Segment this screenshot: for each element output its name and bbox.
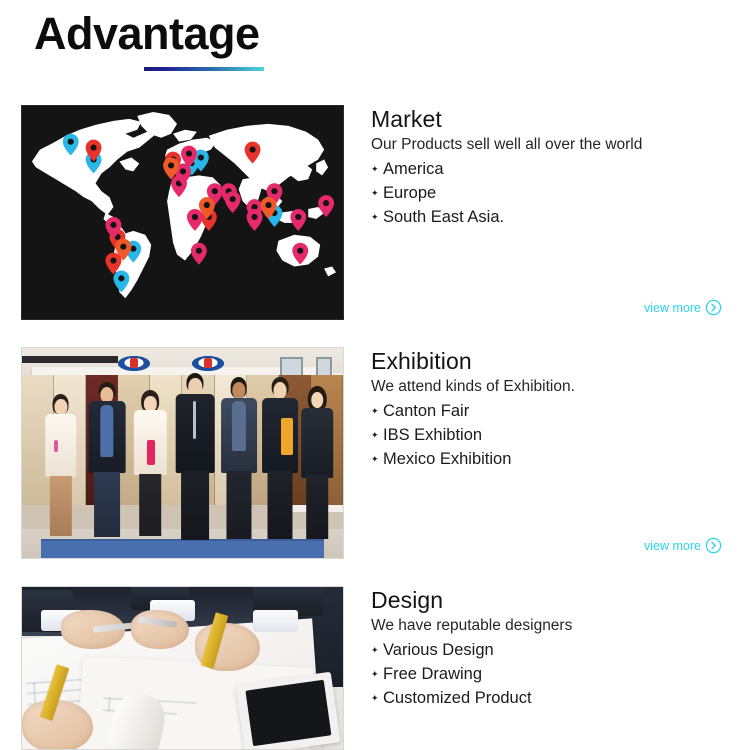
list-item: IBS Exhibtion xyxy=(371,423,743,447)
list-item: Mexico Exhibition xyxy=(371,447,743,471)
market-text-column: Market Our Products sell well all over t… xyxy=(371,105,743,229)
person xyxy=(298,386,337,546)
list-item: Europe xyxy=(371,181,743,205)
section-design: Design We have reputable designers Vario… xyxy=(0,586,750,750)
list-item: Free Drawing xyxy=(371,662,743,686)
person xyxy=(86,382,128,546)
map-canvas xyxy=(22,106,343,319)
shirt-cuff xyxy=(253,610,298,633)
person xyxy=(131,390,170,545)
booth-logo-icon xyxy=(192,356,224,371)
chevron-right-circle-icon xyxy=(705,537,722,554)
booth-beam xyxy=(22,356,118,363)
section-heading: Exhibition xyxy=(371,347,743,375)
page-title: Advantage xyxy=(34,6,260,62)
section-market: Market Our Products sell well all over t… xyxy=(0,105,750,320)
view-more-label: view more xyxy=(644,301,701,315)
exhibition-text-column: Exhibition We attend kinds of Exhibition… xyxy=(371,347,743,471)
booth-logo-icon xyxy=(118,356,150,371)
list-item: South East Asia. xyxy=(371,205,743,229)
view-more-label: view more xyxy=(644,539,701,553)
advantage-page: Advantage xyxy=(0,0,750,750)
list-item: Customized Product xyxy=(371,686,743,710)
page-title-block: Advantage xyxy=(34,6,260,62)
view-more-link-exhibition[interactable]: view more xyxy=(644,537,722,554)
person xyxy=(41,394,80,545)
exhibition-photo-canvas xyxy=(22,348,343,558)
world-map-with-location-pins[interactable] xyxy=(21,105,344,320)
section-heading: Market xyxy=(371,105,743,133)
section-subtitle: Our Products sell well all over the worl… xyxy=(371,133,743,156)
list-item: America xyxy=(371,157,743,181)
section-exhibition: Exhibition We attend kinds of Exhibition… xyxy=(0,347,750,559)
design-photo-canvas xyxy=(22,587,343,749)
section-bullet-list: America Europe South East Asia. xyxy=(371,157,743,229)
section-bullet-list: Various Design Free Drawing Customized P… xyxy=(371,638,743,710)
chevron-right-circle-icon xyxy=(705,299,722,316)
title-gradient-underline xyxy=(144,67,264,71)
hand xyxy=(131,610,189,649)
world-map-graphic xyxy=(22,106,343,319)
list-item: Canton Fair xyxy=(371,399,743,423)
section-heading: Design xyxy=(371,586,743,614)
section-subtitle: We attend kinds of Exhibition. xyxy=(371,375,743,398)
person xyxy=(260,377,302,545)
person xyxy=(173,373,218,545)
tablet-device xyxy=(236,671,341,749)
list-item: Various Design xyxy=(371,638,743,662)
designers-hands-over-blueprints[interactable] xyxy=(21,586,344,750)
section-subtitle: We have reputable designers xyxy=(371,614,743,637)
section-bullet-list: Canton Fair IBS Exhibtion Mexico Exhibit… xyxy=(371,399,743,471)
view-more-link-market[interactable]: view more xyxy=(644,299,722,316)
hand xyxy=(22,700,93,749)
person xyxy=(218,377,260,545)
design-text-column: Design We have reputable designers Vario… xyxy=(371,586,743,710)
exhibition-booth-team-photo[interactable] xyxy=(21,347,344,559)
